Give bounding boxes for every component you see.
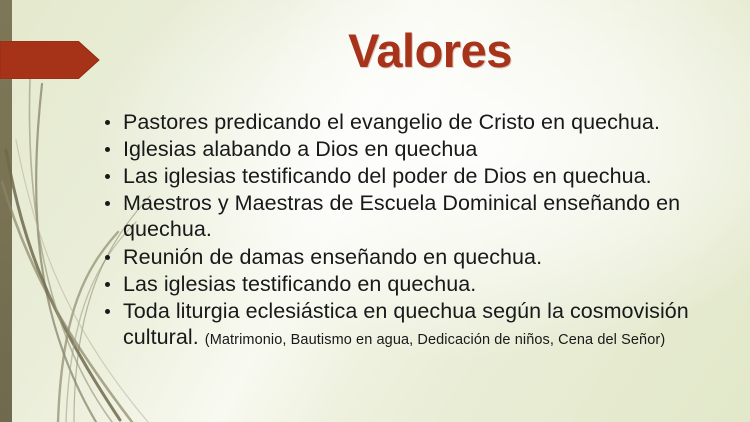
bullet-note: (Matrimonio, Bautismo en agua, Dedicació… [205, 332, 665, 348]
list-item: Iglesias alabando a Dios en quechua [101, 136, 746, 162]
list-item: Maestros y Maestras de Escuela Dominical… [101, 190, 746, 242]
list-item: Reunión de damas enseñando en quechua. [101, 244, 746, 270]
bullet-text: Maestros y Maestras de Escuela Dominical… [123, 191, 680, 241]
bullet-text: Pastores predicando el evangelio de Cris… [123, 110, 660, 134]
bullet-text: Iglesias alabando a Dios en quechua [123, 137, 477, 161]
page-title: Valores [150, 26, 710, 75]
slide-canvas: Valores Pastores predicando el evangelio… [0, 0, 750, 422]
bullet-text: Reunión de damas enseñando en quechua. [123, 245, 542, 269]
list-item: Pastores predicando el evangelio de Cris… [101, 109, 746, 135]
bullet-list: Pastores predicando el evangelio de Cris… [101, 109, 746, 350]
bullet-text: Las iglesias testificando en quechua. [123, 272, 476, 296]
content-body: Pastores predicando el evangelio de Cris… [101, 109, 746, 351]
list-item: Las iglesias testificando en quechua. [101, 271, 746, 297]
list-item: Las iglesias testificando del poder de D… [101, 163, 746, 189]
red-arrow-banner [0, 41, 100, 79]
list-item: Toda liturgia eclesiástica en quechua se… [101, 298, 746, 350]
bullet-text: Las iglesias testificando del poder de D… [123, 164, 652, 188]
